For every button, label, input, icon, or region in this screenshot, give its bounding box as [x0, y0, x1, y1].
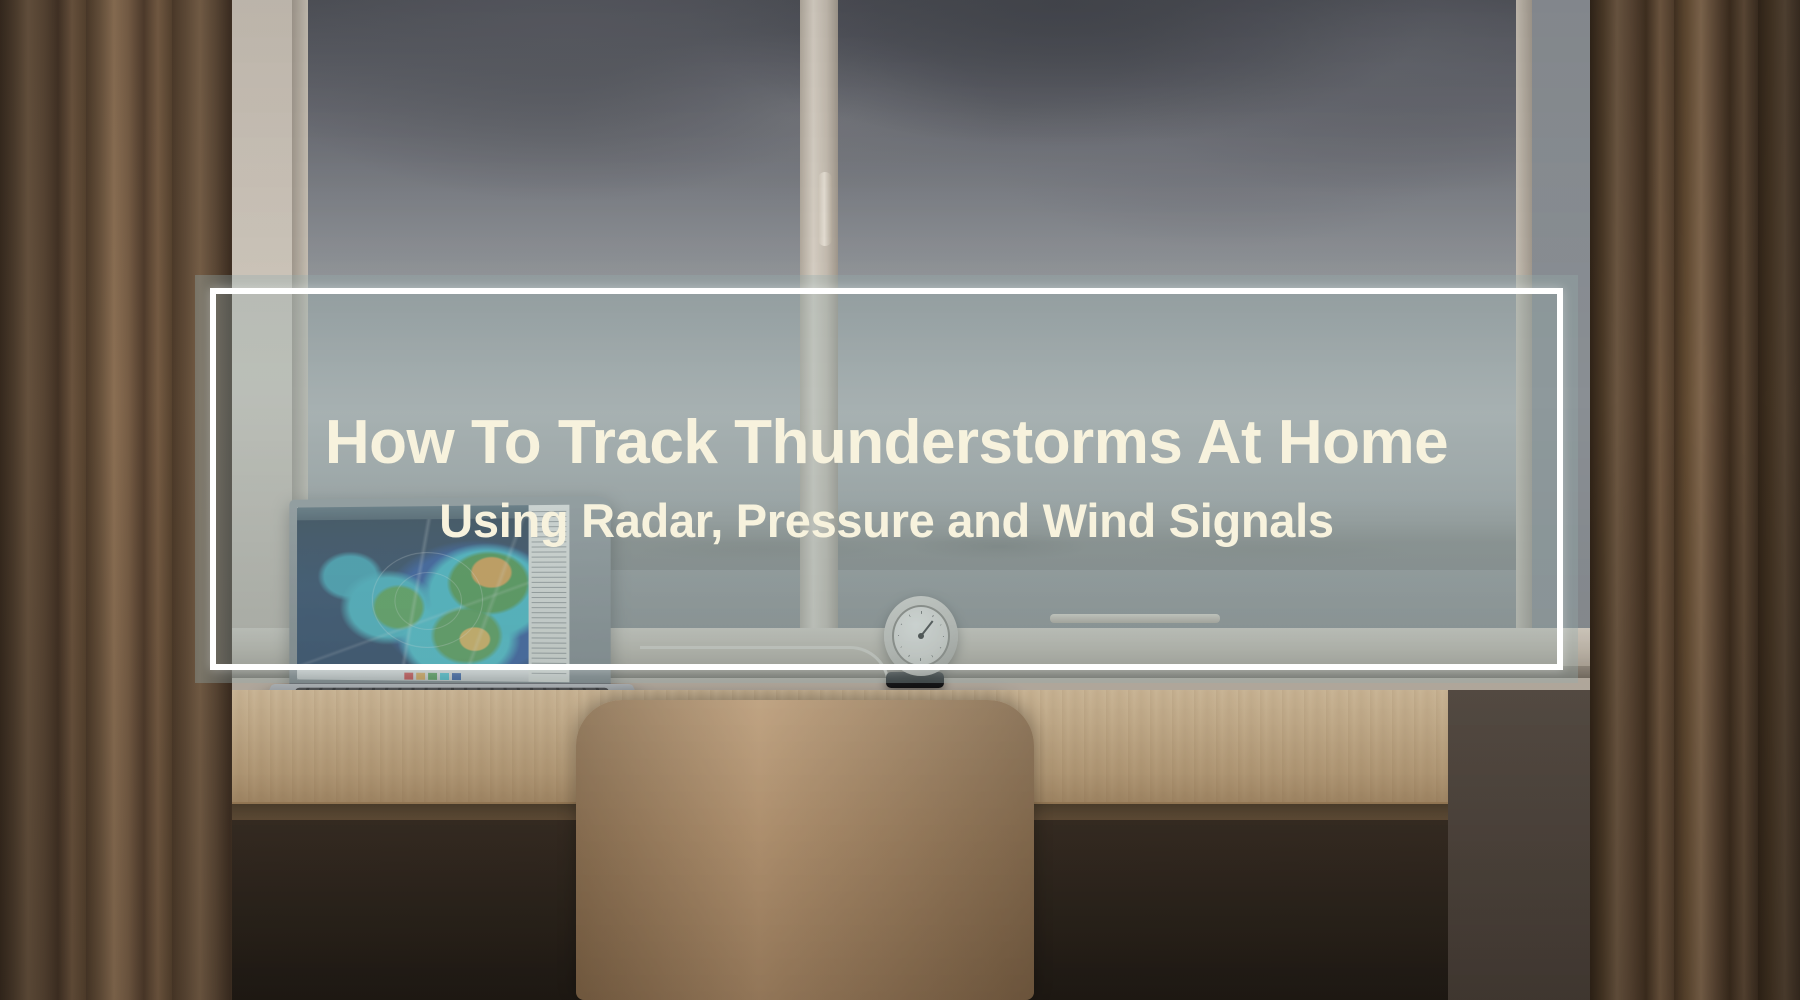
hero-banner: How To Track Thunderstorms At Home Using… — [0, 0, 1800, 1000]
page-subtitle: Using Radar, Pressure and Wind Signals — [439, 495, 1333, 547]
hero-text-block: How To Track Thunderstorms At Home Using… — [210, 288, 1563, 670]
page-title: How To Track Thunderstorms At Home — [325, 411, 1448, 475]
